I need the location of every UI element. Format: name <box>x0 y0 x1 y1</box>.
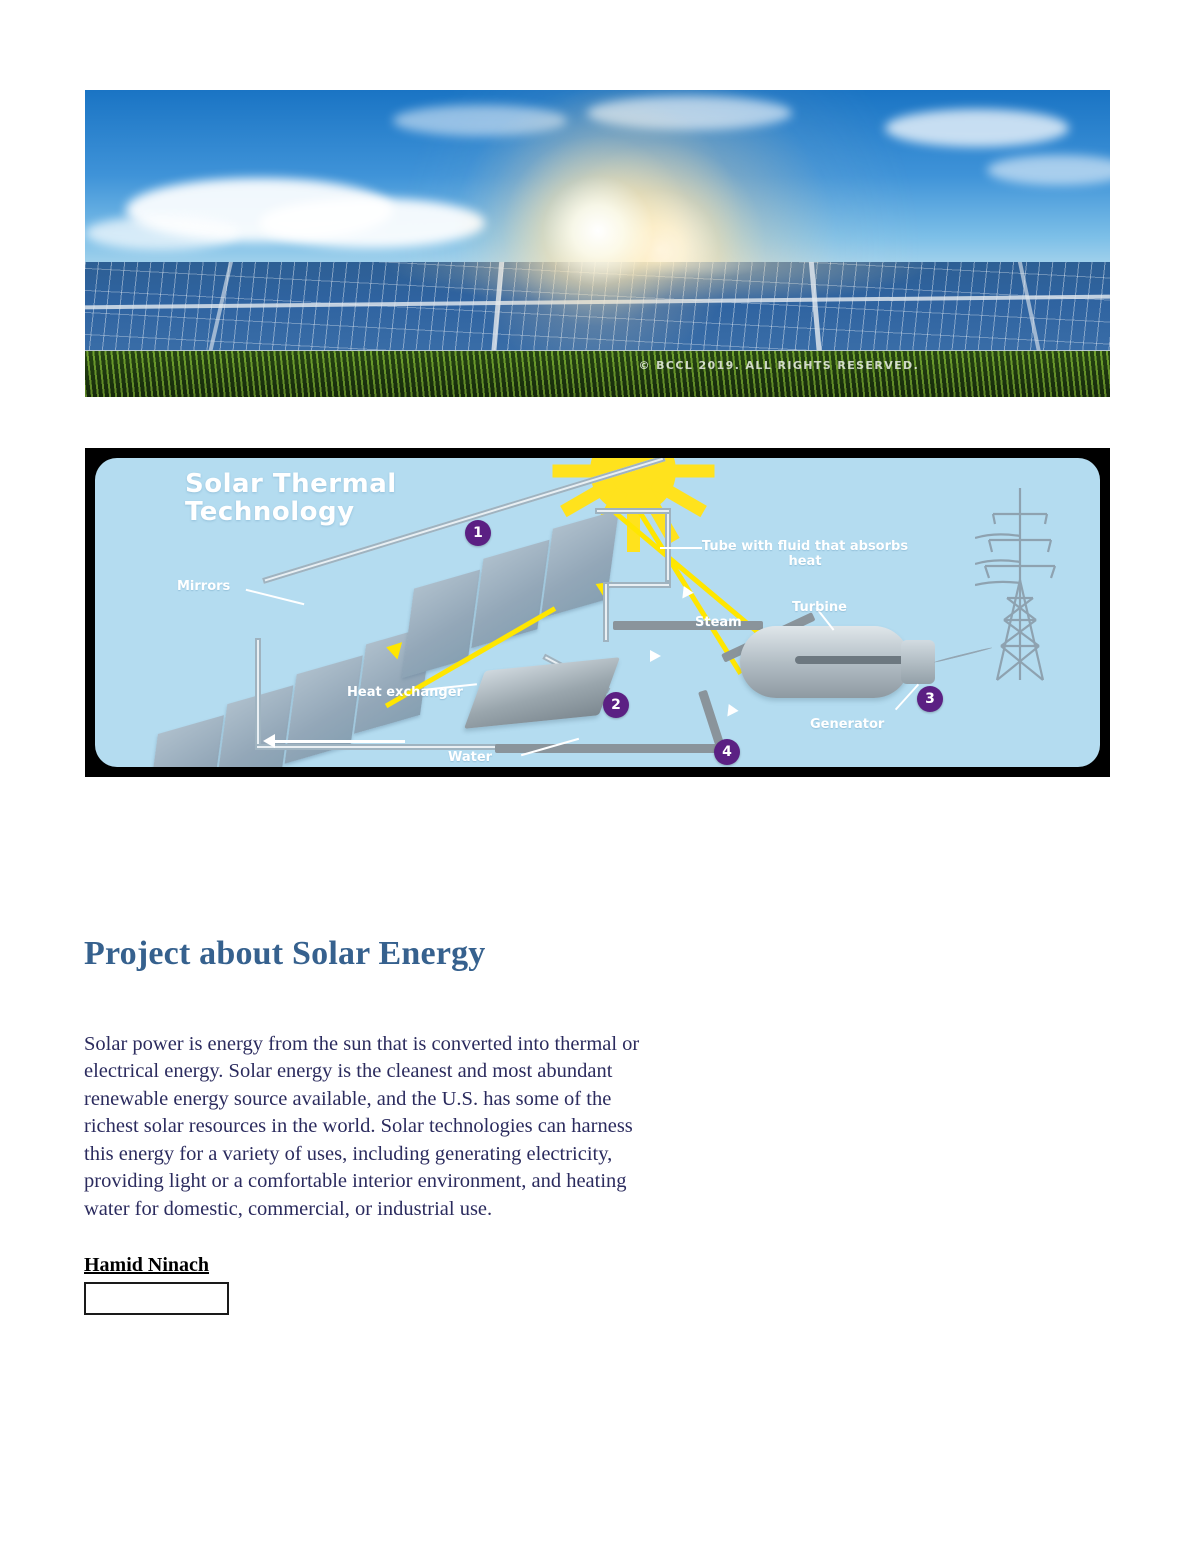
flow-arrow-icon <box>650 650 661 662</box>
diagram-canvas: Solar Thermal Technology <box>95 458 1100 767</box>
label-mirrors: Mirrors <box>177 580 230 595</box>
flow-arrow-icon <box>263 734 275 748</box>
fluid-pipe <box>603 582 671 588</box>
panel-rail <box>809 262 822 357</box>
generator-unit <box>901 640 935 684</box>
fluid-pipe <box>665 510 671 582</box>
diagram-title: Solar Thermal Technology <box>185 470 455 526</box>
page-title: Project about Solar Energy <box>84 935 486 973</box>
leader-line <box>246 589 305 605</box>
label-steam: Steam <box>695 616 742 631</box>
cloud-icon <box>885 109 1070 147</box>
diagram-title-line1: Solar Thermal <box>185 470 455 498</box>
flow-line <box>275 740 405 743</box>
mirror-panel <box>146 715 224 767</box>
flow-arrow-icon <box>722 704 738 720</box>
label-heat-exchanger: Heat exchanger <box>345 686 465 701</box>
fluid-pipe <box>595 508 671 514</box>
step-badge-4: 4 <box>714 739 740 765</box>
transmission-tower-icon <box>975 480 1065 692</box>
label-tube: Tube with fluid that absorbs heat <box>695 540 915 570</box>
label-turbine: Turbine <box>792 601 847 616</box>
panel-rail <box>207 262 233 357</box>
fluid-pipe <box>255 638 261 748</box>
mirror-panel <box>402 570 480 678</box>
heat-exchanger-unit <box>464 657 620 729</box>
step-badge-1: 1 <box>465 520 491 546</box>
label-generator: Generator <box>810 718 884 733</box>
fluid-pipe <box>255 744 535 750</box>
cloud-icon <box>987 155 1110 185</box>
step-badge-3: 3 <box>917 686 943 712</box>
author-input-box[interactable] <box>84 1282 229 1315</box>
solar-thermal-diagram: Solar Thermal Technology <box>85 448 1110 777</box>
diagram-title-line2: Technology <box>185 498 455 526</box>
solar-panel-banner-image: © BCCL 2019. ALL RIGHTS RESERVED. <box>85 90 1110 397</box>
label-water: Water <box>448 751 492 766</box>
sun-glare <box>448 90 748 381</box>
grass-foreground <box>85 351 1110 397</box>
panel-rail <box>1018 262 1042 357</box>
cloud-icon <box>85 216 239 250</box>
step-badge-2: 2 <box>603 692 629 718</box>
copyright-watermark: © BCCL 2019. ALL RIGHTS RESERVED. <box>639 359 920 372</box>
body-paragraph: Solar power is energy from the sun that … <box>84 1031 656 1224</box>
fluid-pipe <box>603 582 609 642</box>
turbine-shaft <box>795 656 915 664</box>
author-name: Hamid Ninach <box>84 1254 209 1277</box>
